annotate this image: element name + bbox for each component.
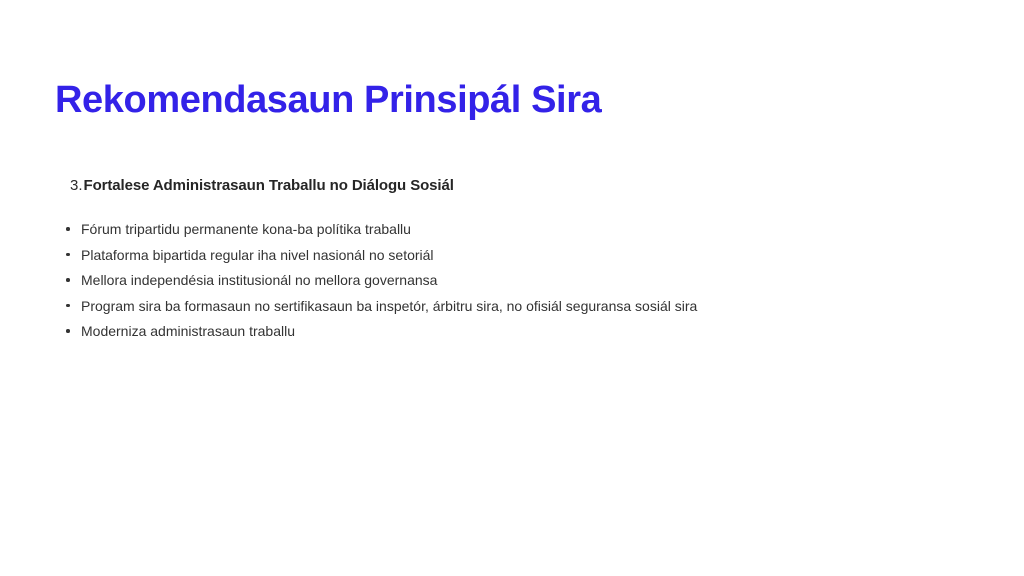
bullet-point-icon xyxy=(66,227,70,231)
list-item-label: Moderniza administrasaun traballu xyxy=(81,323,295,339)
list-item-label: Program sira ba formasaun no sertifikasa… xyxy=(81,298,697,314)
list-item: Fórum tripartidu permanente kona-ba polí… xyxy=(62,222,697,236)
list-item: Mellora independésia institusionál no me… xyxy=(62,273,697,287)
list-item-label: Mellora independésia institusionál no me… xyxy=(81,272,437,288)
list-item: Plataforma bipartida regular iha nivel n… xyxy=(62,248,697,262)
section-title: Fortalese Administrasaun Traballu no Diá… xyxy=(84,176,454,196)
bullet-point-icon xyxy=(66,278,70,282)
list-item-label: Fórum tripartidu permanente kona-ba polí… xyxy=(81,221,411,237)
bullet-point-icon xyxy=(66,329,70,333)
section-heading: 3. Fortalese Administrasaun Traballu no … xyxy=(70,176,454,196)
slide: Rekomendasaun Prinsipál Sira 3. Fortales… xyxy=(0,0,1024,576)
bullet-point-icon xyxy=(66,304,70,308)
section-number: 3. xyxy=(70,176,83,196)
bullet-list: Fórum tripartidu permanente kona-ba polí… xyxy=(62,222,697,338)
list-item: Program sira ba formasaun no sertifikasa… xyxy=(62,299,697,313)
list-item: Moderniza administrasaun traballu xyxy=(62,324,697,338)
list-item-label: Plataforma bipartida regular iha nivel n… xyxy=(81,247,434,263)
page-title: Rekomendasaun Prinsipál Sira xyxy=(55,78,601,122)
bullet-point-icon xyxy=(66,253,70,257)
